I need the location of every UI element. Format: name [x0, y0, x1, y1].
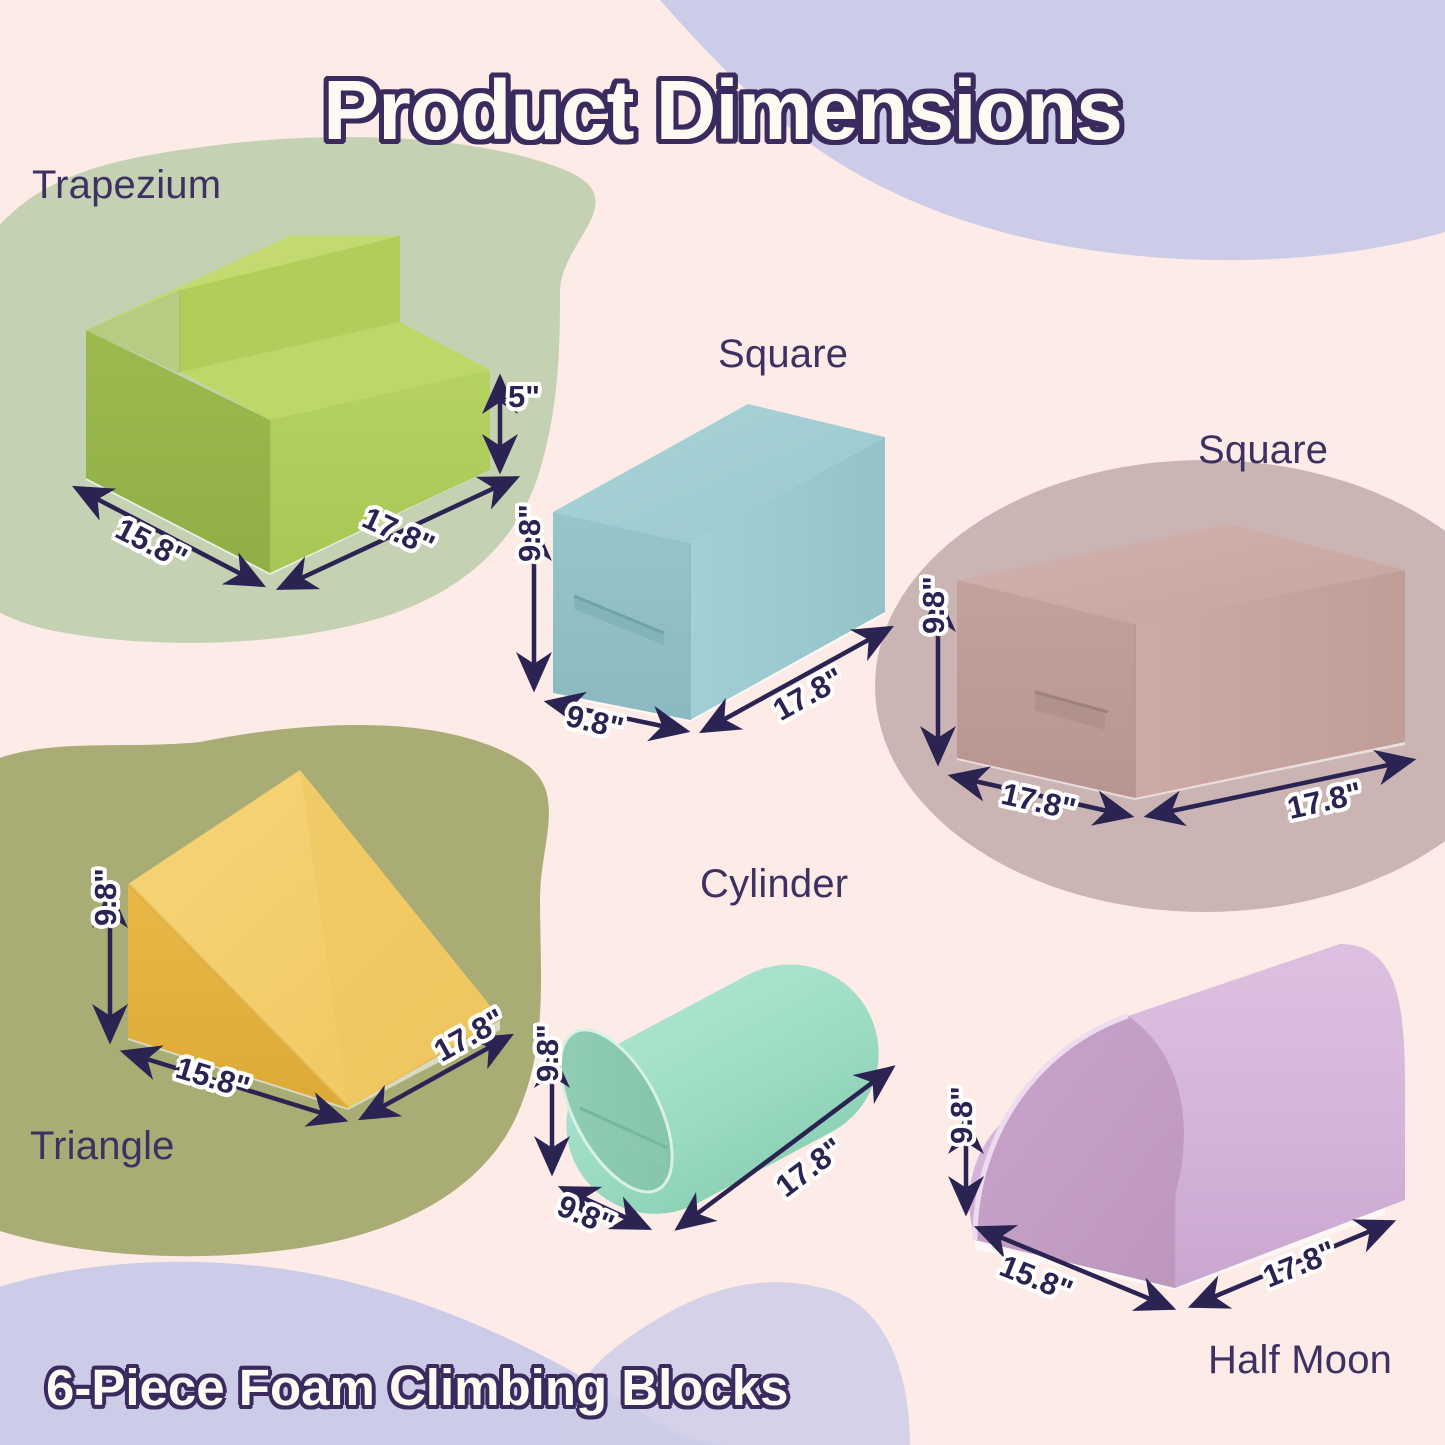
- footer-caption: 6-Piece Foam Climbing Blocks: [46, 1358, 789, 1417]
- page-title: Product Dimensions: [0, 62, 1445, 159]
- infographic-canvas: Product Dimensions Trapezium Square Squa…: [0, 0, 1445, 1445]
- dim-label-cylinder-height: 9.8": [530, 1024, 566, 1082]
- dim-arrow-pink-depth: [1148, 760, 1412, 816]
- dim-label-triangle-height: 9.8": [88, 868, 124, 926]
- dim-label-trapezium-height: 5": [508, 379, 540, 415]
- shape-label-triangle: Triangle: [30, 1124, 175, 1169]
- dim-arrow-cylinder-depth: [678, 1068, 892, 1228]
- shape-label-cylinder: Cylinder: [700, 862, 848, 907]
- shape-label-square-pink: Square: [1198, 428, 1328, 473]
- dim-label-blue-height: 9.8": [512, 504, 548, 562]
- shape-label-square-blue: Square: [718, 332, 848, 377]
- shape-label-half-moon: Half Moon: [1208, 1338, 1392, 1383]
- dim-label-pink-height: 9.8": [916, 576, 952, 634]
- shape-label-trapezium: Trapezium: [32, 163, 221, 208]
- dimension-arrows: [0, 0, 1445, 1445]
- dim-label-halfmoon-height: 9.8": [944, 1086, 980, 1144]
